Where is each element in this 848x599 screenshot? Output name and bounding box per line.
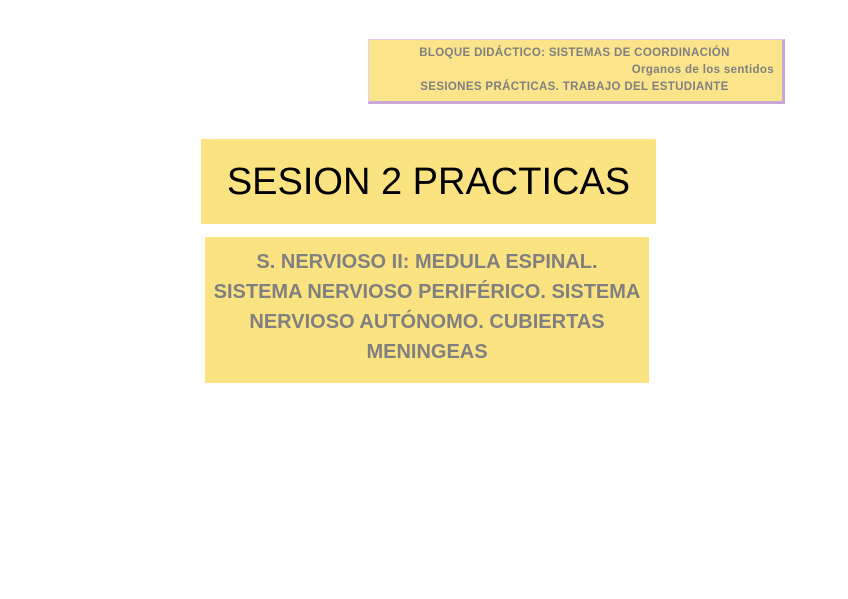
header-line-sesiones-practicas: SESIONES PRÁCTICAS. TRABAJO DEL ESTUDIAN… xyxy=(375,79,774,96)
page-subtitle: S. NERVIOSO II: MEDULA ESPINAL. SISTEMA … xyxy=(212,247,642,367)
subtitle-block: S. NERVIOSO II: MEDULA ESPINAL. SISTEMA … xyxy=(205,237,649,383)
slide-canvas: BLOQUE DIDÁCTICO: SISTEMAS DE COORDINACI… xyxy=(0,0,848,599)
header-line-bloque-didactico: BLOQUE DIDÁCTICO: SISTEMAS DE COORDINACI… xyxy=(375,45,774,62)
page-title: SESION 2 PRACTICAS xyxy=(227,160,630,204)
header-line-organos-sentidos: Organos de los sentidos xyxy=(375,62,774,79)
header-banner: BLOQUE DIDÁCTICO: SISTEMAS DE COORDINACI… xyxy=(368,39,785,104)
title-block: SESION 2 PRACTICAS xyxy=(201,139,656,224)
